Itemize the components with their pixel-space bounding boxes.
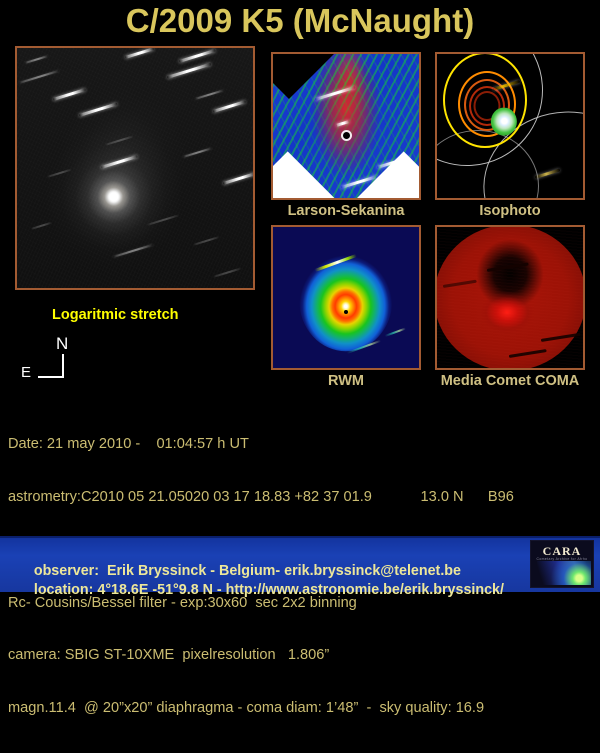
cara-logo[interactable]: CARA Cometary Archive for Afrho	[530, 540, 594, 588]
footer-text: observer: Erik Bryssinck - Belgium- erik…	[10, 543, 504, 619]
footer-banner: observer: Erik Bryssinck - Belgium- erik…	[0, 536, 600, 592]
rwm-image	[273, 227, 419, 368]
coma-noise	[437, 227, 583, 368]
main-comet-image	[17, 48, 253, 288]
page-title: C/2009 K5 (McNaught)	[0, 2, 600, 40]
rwm-panel[interactable]	[271, 225, 421, 370]
rwm-caption: RWM	[271, 373, 421, 389]
compass-east-arm	[38, 376, 64, 378]
compass-east-label: E	[21, 364, 31, 381]
isophoto-caption: Isophoto	[435, 203, 585, 219]
rwm-coma	[299, 250, 392, 352]
info-line-camera: camera: SBIG ST-10XME pixelresolution 1.…	[8, 647, 600, 665]
footer-location-line[interactable]: location: 4°18.6E -51°9.8 N - http://www…	[34, 582, 504, 598]
compass-north-label: N	[56, 334, 68, 354]
isophoto-core	[491, 107, 517, 136]
footer-top-edge	[0, 536, 600, 538]
main-comet-image-panel[interactable]	[15, 46, 255, 290]
footer-observer-line: observer: Erik Bryssinck - Belgium- erik…	[34, 563, 461, 579]
info-line-astrometry: astrometry:C2010 05 21.05020 03 17 18.83…	[8, 489, 600, 507]
media-comet-coma-image	[437, 227, 583, 368]
logarithmic-stretch-label: Logaritmic stretch	[52, 307, 179, 323]
rwm-nucleus	[344, 310, 348, 314]
comet-icon	[537, 561, 591, 585]
larson-sekanina-caption: Larson-Sekanina	[271, 203, 421, 219]
image-noise	[17, 48, 253, 288]
screenshot-root: C/2009 K5 (McNaught) Logari	[0, 0, 600, 600]
isophoto-image	[437, 54, 583, 198]
media-comet-coma-panel[interactable]	[435, 225, 585, 370]
media-comet-coma-caption: Media Comet COMA	[431, 373, 589, 389]
compass-north-arm	[62, 354, 64, 378]
info-line-date: Date: 21 may 2010 - 01:04:57 h UT	[8, 436, 600, 454]
ls-nucleus	[343, 132, 350, 139]
larson-sekanina-image	[273, 54, 419, 198]
isophoto-panel[interactable]	[435, 52, 585, 200]
larson-sekanina-panel[interactable]	[271, 52, 421, 200]
info-line-magnitude: magn.11.4 @ 20”x20” diaphragma - coma di…	[8, 700, 600, 718]
